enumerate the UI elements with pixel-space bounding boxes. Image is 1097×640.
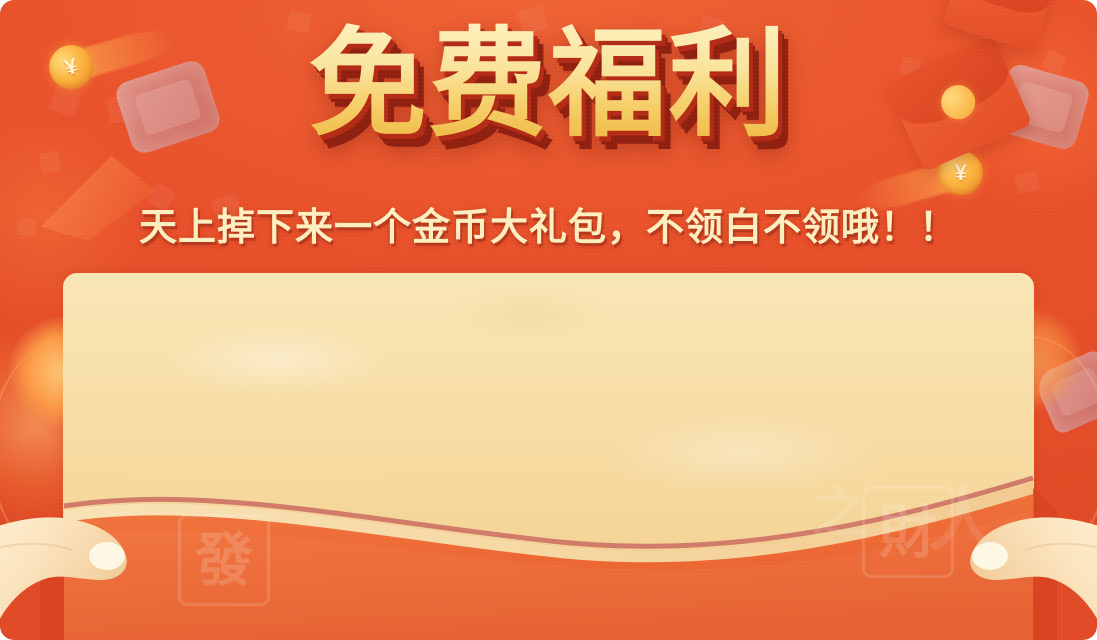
left-hand-fill (0, 517, 127, 640)
right-hand (901, 498, 1097, 640)
right-hand-fill (970, 517, 1097, 640)
watermark-figure-left: 之 (812, 468, 866, 547)
right-thumb-nail (972, 542, 1008, 570)
page-subtitle: 天上掉下来一个金币大礼包，不领白不领哦！！ (0, 196, 1097, 251)
right-hand-shape (901, 498, 1097, 640)
free-welfare-banner: ¥ ¥ (0, 0, 1097, 640)
headline-container: 免费福利 (0, 22, 1097, 147)
left-hand (0, 498, 196, 640)
page-title: 免费福利 (308, 22, 788, 147)
left-hand-shape (0, 498, 196, 640)
seal-glyph: 發 (195, 531, 253, 589)
red-packet-flap (952, 0, 1058, 21)
left-thumb-nail (89, 542, 125, 570)
confetti-square (38, 150, 62, 174)
coin-symbol: ¥ (955, 162, 967, 184)
